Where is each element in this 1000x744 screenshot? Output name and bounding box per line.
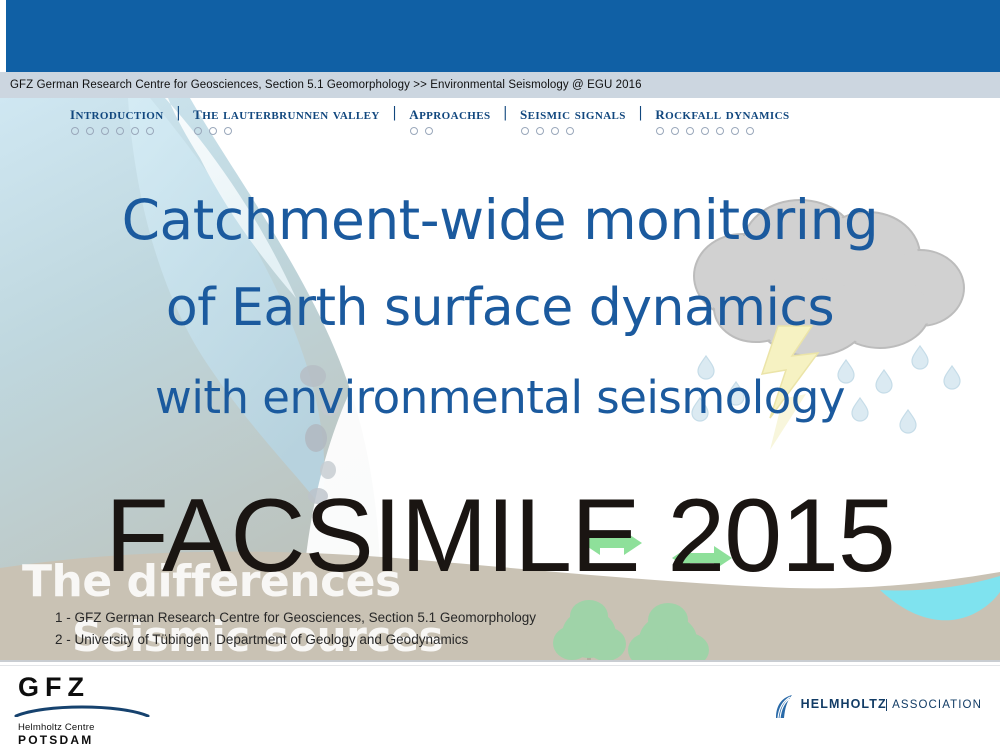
nav-item-approaches[interactable]: Approaches bbox=[409, 104, 490, 135]
watermark-text-1: The differences bbox=[22, 556, 401, 607]
nav-dots-rockfall-dynamics bbox=[655, 127, 789, 135]
boulder-icon bbox=[320, 461, 336, 479]
nav-dot[interactable] bbox=[71, 127, 79, 135]
nav-item-introduction[interactable]: Introduction bbox=[70, 104, 164, 135]
helmholtz-line-2: ASSOCIATION bbox=[886, 699, 982, 711]
nav-label-rockfall-dynamics: Rockfall Dynamics bbox=[655, 104, 789, 124]
nav-dot[interactable] bbox=[86, 127, 94, 135]
nav-dot[interactable] bbox=[194, 127, 202, 135]
nav-label-introduction: Introduction bbox=[70, 104, 164, 124]
nav-dot[interactable] bbox=[146, 127, 154, 135]
nav-dot[interactable] bbox=[116, 127, 124, 135]
nav-dots-seismic-signals bbox=[520, 127, 626, 135]
nav-dot[interactable] bbox=[209, 127, 217, 135]
footer-divider bbox=[0, 665, 1000, 666]
nav-separator: | bbox=[164, 104, 194, 122]
affiliation-line-1: 1 - GFZ German Research Centre for Geosc… bbox=[55, 607, 536, 629]
nav-dot[interactable] bbox=[551, 127, 559, 135]
nav-separator: | bbox=[491, 104, 521, 122]
nav-dot[interactable] bbox=[521, 127, 529, 135]
nav-dot[interactable] bbox=[425, 127, 433, 135]
nav-dot[interactable] bbox=[701, 127, 709, 135]
helmholtz-text: HELMHOLTZ ASSOCIATION bbox=[801, 694, 982, 713]
boulder-icon bbox=[300, 365, 326, 387]
gfz-arc-icon bbox=[14, 703, 204, 722]
nav-dot[interactable] bbox=[224, 127, 232, 135]
nav-dot[interactable] bbox=[566, 127, 574, 135]
breadcrumb: GFZ German Research Centre for Geoscienc… bbox=[0, 79, 642, 91]
nav-label-approaches: Approaches bbox=[409, 104, 490, 124]
nav-dot[interactable] bbox=[131, 127, 139, 135]
helmholtz-line-1: HELMHOLTZ bbox=[801, 697, 887, 711]
gfz-city: POTSDAM bbox=[14, 733, 204, 744]
nav-dot[interactable] bbox=[731, 127, 739, 135]
breadcrumb-bar: GFZ German Research Centre for Geoscienc… bbox=[0, 72, 1000, 98]
helmholtz-feather-icon bbox=[773, 694, 795, 725]
presentation-slide: Catchment-wide monitoring of Earth surfa… bbox=[0, 0, 1000, 744]
nav-dot[interactable] bbox=[101, 127, 109, 135]
affiliation-list: 1 - GFZ German Research Centre for Geosc… bbox=[55, 607, 536, 651]
nav-label-lauterbrunnen-valley: The Lauterbrunnen Valley bbox=[193, 104, 380, 124]
nav-item-seismic-signals[interactable]: Seismic signals bbox=[520, 104, 626, 135]
nav-separator: | bbox=[380, 104, 410, 122]
nav-dots-lauterbrunnen-valley bbox=[193, 127, 380, 135]
nav-dot[interactable] bbox=[686, 127, 694, 135]
banner-left-edge bbox=[0, 0, 6, 72]
nav-dots-approaches bbox=[409, 127, 490, 135]
gfz-logo: GFZ Helmholtz Centre POTSDAM bbox=[14, 672, 204, 744]
nav-dot[interactable] bbox=[716, 127, 724, 135]
boulder-icon bbox=[308, 488, 328, 504]
nav-dot[interactable] bbox=[746, 127, 754, 135]
nav-dot[interactable] bbox=[656, 127, 664, 135]
boulder-icon bbox=[321, 400, 339, 416]
section-navigation: Introduction | The Lauterbrunnen Valley … bbox=[0, 98, 1000, 142]
affiliation-line-2: 2 - University of Tübingen, Department o… bbox=[55, 629, 536, 651]
nav-label-seismic-signals: Seismic signals bbox=[520, 104, 626, 124]
boulder-icon bbox=[305, 424, 327, 452]
nav-dots-introduction bbox=[70, 127, 164, 135]
nav-separator: | bbox=[626, 104, 656, 122]
gfz-wordmark: GFZ bbox=[14, 672, 204, 702]
nav-dot[interactable] bbox=[410, 127, 418, 135]
nav-dot[interactable] bbox=[671, 127, 679, 135]
top-banner bbox=[0, 0, 1000, 72]
helmholtz-logo: HELMHOLTZ ASSOCIATION bbox=[773, 694, 982, 725]
nav-dot[interactable] bbox=[536, 127, 544, 135]
nav-item-lauterbrunnen-valley[interactable]: The Lauterbrunnen Valley bbox=[193, 104, 380, 135]
nav-item-rockfall-dynamics[interactable]: Rockfall Dynamics bbox=[655, 104, 789, 135]
slide-footer: GFZ Helmholtz Centre POTSDAM HELMHOLTZ A… bbox=[0, 660, 1000, 744]
gfz-subtitle: Helmholtz Centre bbox=[14, 722, 204, 733]
